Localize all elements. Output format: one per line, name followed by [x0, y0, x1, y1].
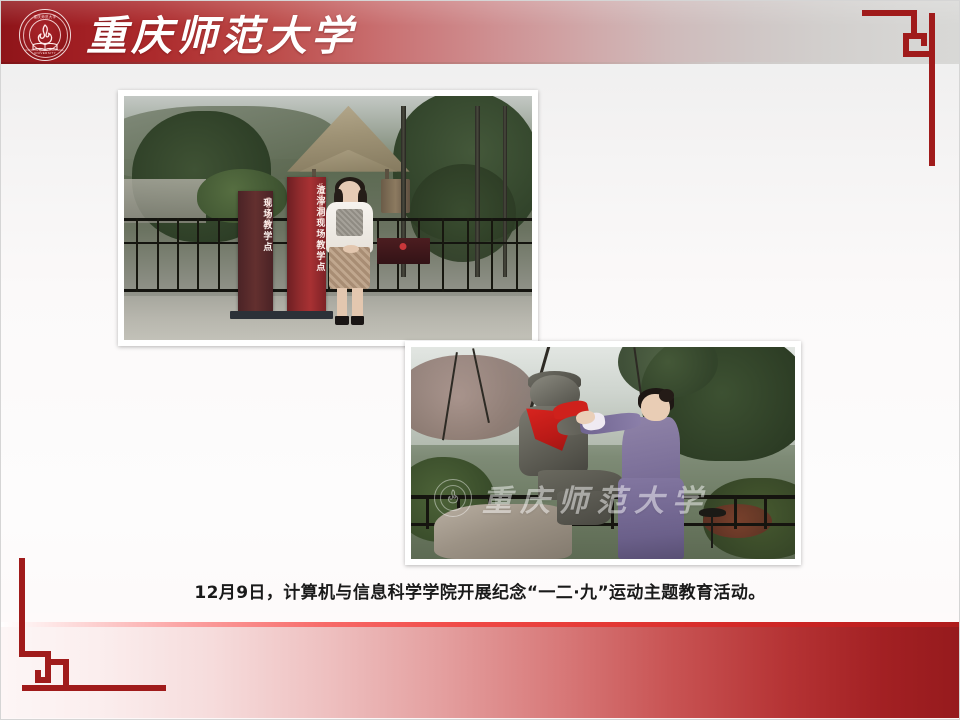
- person-leg-right: [352, 288, 362, 320]
- banner-main-subtext: 红岩研学教育基地: [318, 183, 324, 223]
- scene-red-scarf-statue: 重庆师范大学: [411, 347, 795, 559]
- photo-red-scarf-statue[interactable]: 重庆师范大学: [405, 341, 801, 565]
- slide-caption: 12月9日，计算机与信息科学学院开展纪念“一二·九”运动主题教育活动。: [0, 578, 960, 603]
- chinese-fret-corner-icon-top-right: [862, 8, 944, 166]
- railing-picket: [177, 218, 179, 292]
- plaque-badge-icon: [400, 243, 407, 250]
- banner-base-right: [280, 311, 333, 320]
- university-name-title: 重庆师范大学: [86, 6, 356, 58]
- background-building: [124, 179, 206, 223]
- railing-picket: [491, 218, 493, 292]
- railing-picket: [157, 218, 159, 292]
- woman-hair-bun: [659, 389, 674, 402]
- scene-site-visit: 现场教学点 红岩干部学院 渣滓洞现场教学点 红岩研学教育基地: [124, 96, 532, 340]
- banner-base-left: [230, 311, 283, 320]
- photo-watermark: 重庆师范大学: [434, 466, 757, 530]
- railing-picket: [442, 218, 444, 292]
- photo-site-visit[interactable]: 现场教学点 红岩干部学院 渣滓洞现场教学点 红岩研学教育基地: [118, 90, 538, 346]
- railing-picket: [197, 218, 199, 292]
- person-leg-left: [337, 288, 347, 320]
- banner-secondary-subtext: 红岩干部学院: [265, 197, 271, 227]
- railing-picket: [764, 495, 767, 529]
- railing-picket: [467, 218, 469, 292]
- railing-picket: [136, 218, 138, 292]
- watermark-flame-icon: [446, 489, 460, 504]
- seal-arc-bottom-text: CHONGQING NORMAL UNIVERSITY: [20, 49, 70, 55]
- university-seal-icon: 重庆师范大学 CHONGQING NORMAL UNIVERSITY: [19, 9, 71, 61]
- railing-picket: [426, 495, 429, 529]
- railing-picket: [218, 218, 220, 292]
- autumn-foliage-left: [411, 355, 534, 440]
- photo-site-visit-image: 现场教学点 红岩干部学院 渣滓洞现场教学点 红岩研学教育基地: [124, 96, 532, 340]
- seal-arc-top-text: 重庆师范大学: [20, 16, 70, 19]
- banner-main: 渣滓洞现场教学点 红岩研学教育基地: [287, 177, 326, 314]
- watermark-text: 重庆师范大学: [482, 476, 710, 520]
- railing-picket: [516, 218, 518, 292]
- photo-red-scarf-statue-image: 重庆师范大学: [411, 347, 795, 559]
- header-baseline: [0, 62, 960, 64]
- person-shoe-left: [335, 316, 348, 326]
- watermark-seal-icon: [434, 479, 472, 517]
- presentation-slide: 重庆师范大学 CHONGQING NORMAL UNIVERSITY 重庆师范大…: [0, 0, 960, 720]
- banner-secondary: 现场教学点 红岩干部学院: [238, 191, 273, 311]
- person-vest: [336, 209, 363, 236]
- person-shoe-right: [351, 316, 364, 326]
- flame-emblem-icon: [35, 24, 55, 45]
- person-skirt: [329, 247, 370, 288]
- site-plaque: [377, 238, 430, 265]
